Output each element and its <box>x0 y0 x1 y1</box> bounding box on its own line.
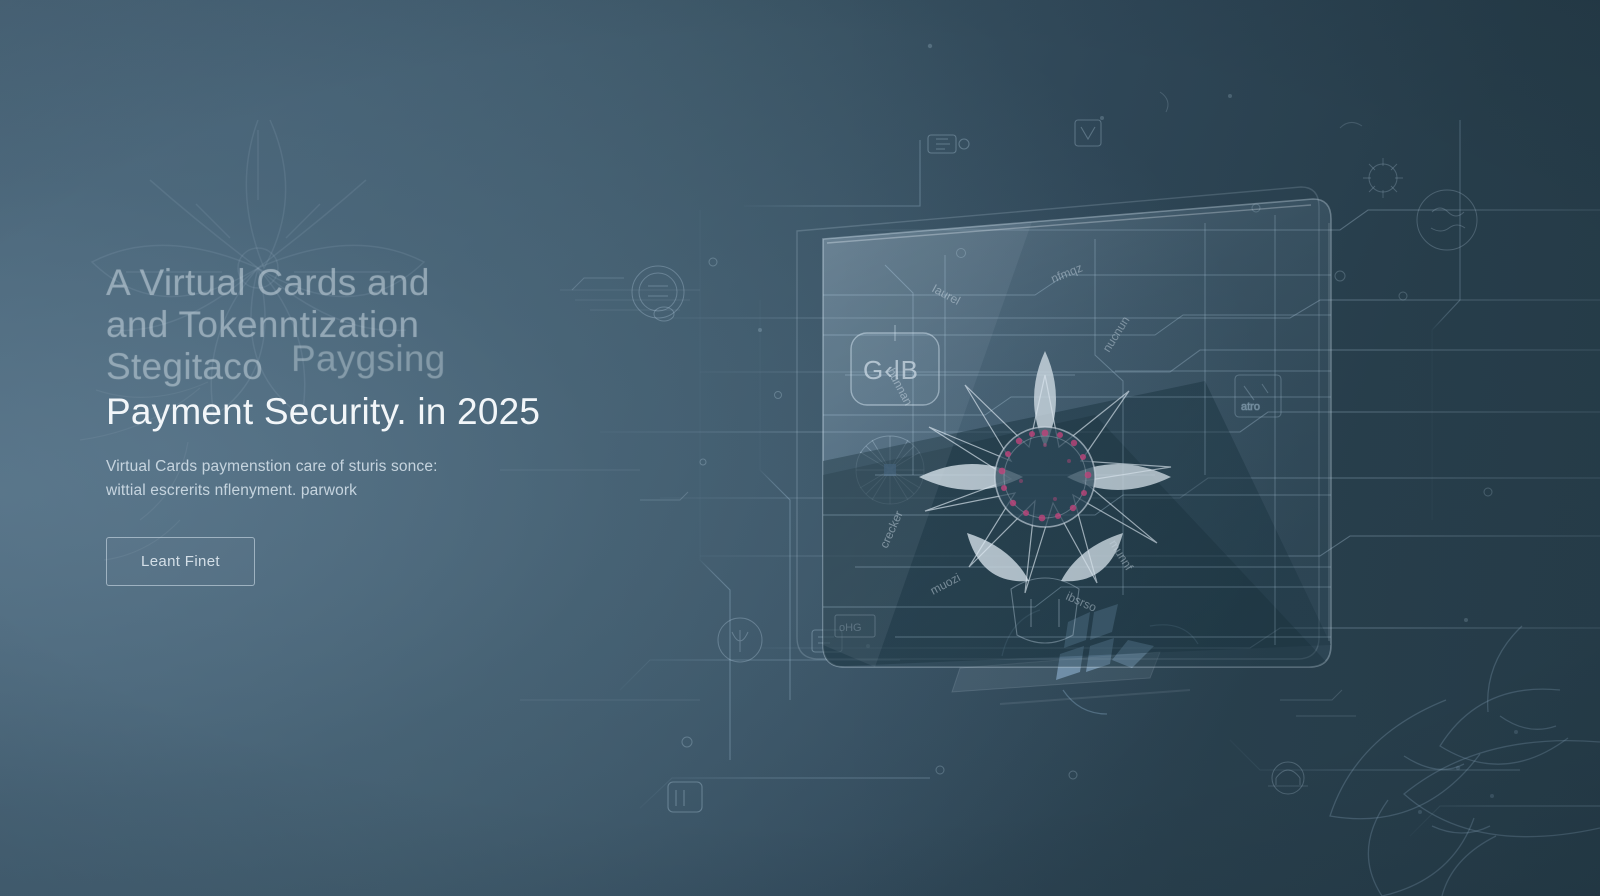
learn-more-button[interactable]: Leant Finet <box>106 537 255 586</box>
hero-subtext: Virtual Cards paymenstion care of sturis… <box>106 455 576 503</box>
virtual-card-graphic: G‹lB <box>735 175 1355 695</box>
subtext-line-2: wittial escrerits nflenyment. parwork <box>106 479 576 503</box>
hero-content: A Virtual Cards and and Tokenntization S… <box>106 262 726 586</box>
leaf-sprig-icon <box>1330 626 1600 896</box>
headline-ghost-line-1: A Virtual Cards and <box>106 262 726 304</box>
headline-ghost-overlay: Paygsing <box>291 338 446 380</box>
subtext-line-1: Virtual Cards paymenstion care of sturis… <box>106 455 576 479</box>
hero-headline: A Virtual Cards and and Tokenntization S… <box>106 262 726 433</box>
card-chip: G‹lB <box>851 325 939 405</box>
hero-banner: atro <box>0 0 1600 896</box>
svg-text:oHG: oHG <box>839 622 862 634</box>
headline-solid-line: Payment Security. in 2025 <box>106 391 726 433</box>
